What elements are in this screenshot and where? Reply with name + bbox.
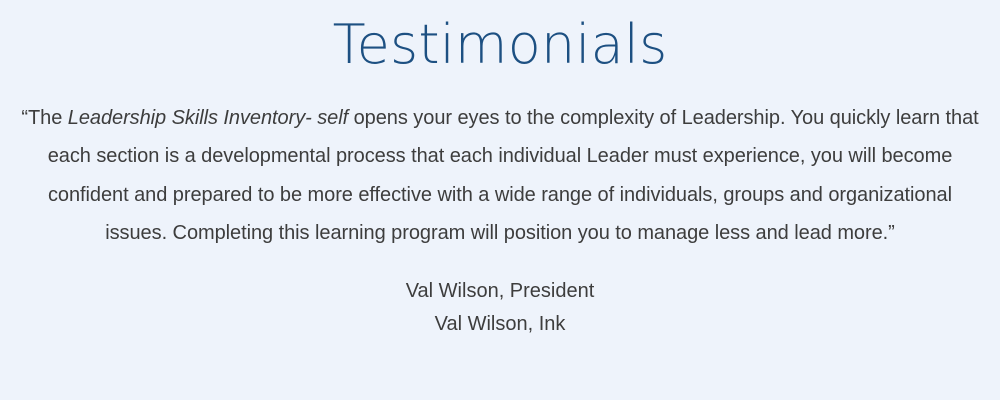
close-quote-mark: ”: [888, 222, 895, 244]
attribution-name-role: Val Wilson, President: [16, 275, 984, 308]
open-quote-mark: “: [21, 107, 28, 129]
testimonial-quote: “The Leadership Skills Inventory- self o…: [0, 77, 1000, 253]
page-title: Testimonials: [0, 0, 1000, 77]
testimonials-section: Testimonials “The Leadership Skills Inve…: [0, 0, 1000, 400]
attribution-organization: Val Wilson, Ink: [16, 308, 984, 341]
testimonial-quote-text: “The Leadership Skills Inventory- self o…: [16, 99, 984, 253]
product-name-emphasis: Leadership Skills Inventory- self: [68, 107, 348, 129]
testimonial-attribution: Val Wilson, President Val Wilson, Ink: [0, 253, 1000, 341]
quote-lead-text: The: [28, 107, 68, 129]
